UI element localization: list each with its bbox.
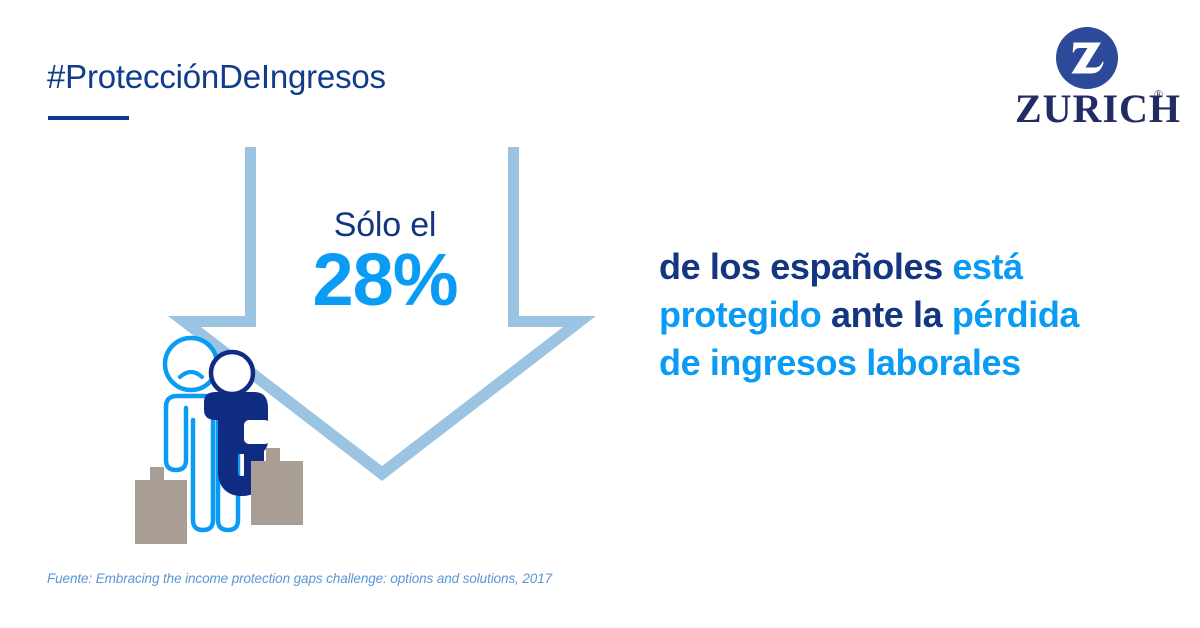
zurich-wordmark: ZURICH: [1015, 89, 1167, 129]
briefcase-left-icon: [135, 467, 187, 544]
zurich-z-monogram-icon: [1056, 27, 1118, 89]
registered-trademark-icon: ®: [1154, 87, 1163, 102]
hashtag-title: #ProtecciónDeIngresos: [47, 58, 386, 96]
source-citation: Fuente: Embracing the income protection …: [47, 571, 552, 586]
headline-segment-1: de los españoles: [659, 246, 952, 287]
zurich-logo: ZURICH ®: [1012, 27, 1172, 131]
hashtag-underline-rule: [48, 116, 129, 120]
down-arrow-illustration: [120, 120, 640, 550]
headline-text: de los españoles está protegido ante la …: [659, 243, 1129, 387]
infographic-canvas: #ProtecciónDeIngresos ZURICH ®: [0, 0, 1200, 628]
headline-segment-3: ante la: [821, 294, 951, 335]
